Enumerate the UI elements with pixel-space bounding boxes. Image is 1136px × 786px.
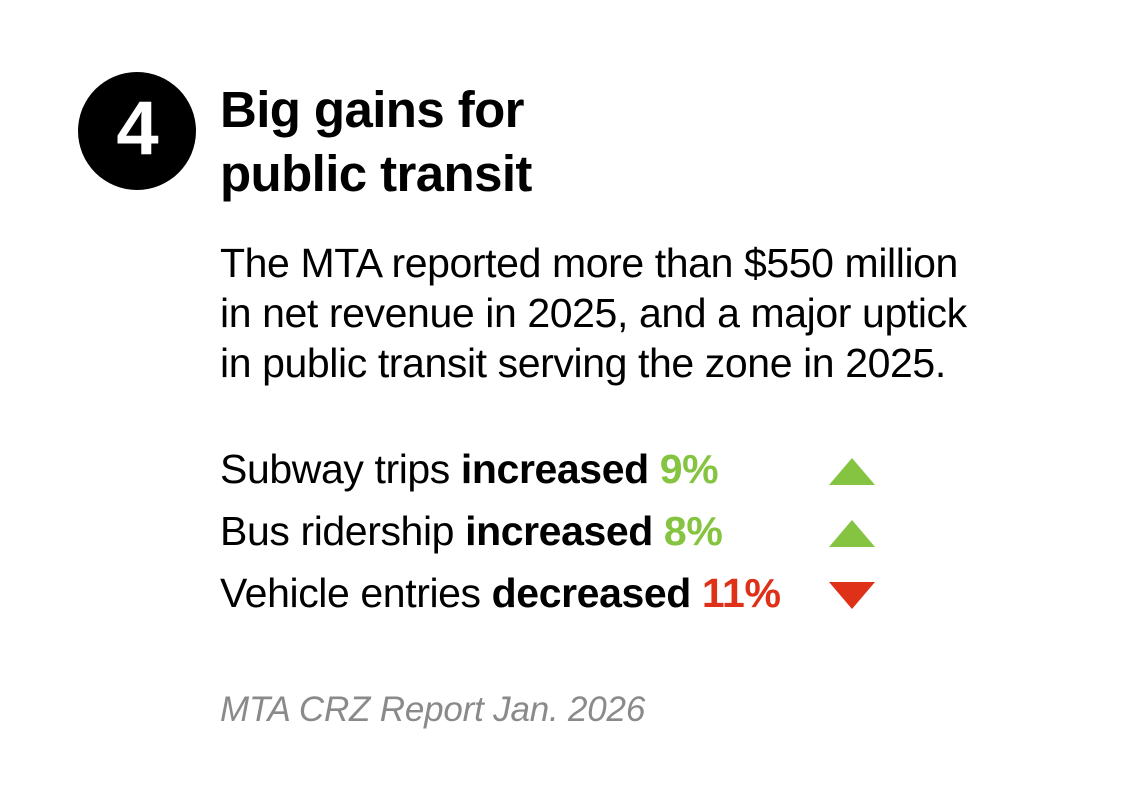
stat-verb: decreased <box>492 570 702 616</box>
triangle-down-shape <box>829 582 875 609</box>
infographic-card: 4 Big gains for public transit The MTA r… <box>0 0 1136 786</box>
stat-text: Vehicle entries decreased 11% <box>220 562 781 624</box>
content-column: Big gains for public transit The MTA rep… <box>220 78 1080 732</box>
stat-text: Bus ridership increased 8% <box>220 500 722 562</box>
stat-value: 11% <box>702 570 781 616</box>
triangle-down-icon <box>829 573 875 613</box>
triangle-up-icon <box>829 449 875 489</box>
stat-label: Vehicle entries <box>220 570 492 616</box>
stat-text: Subway trips increased 9% <box>220 438 718 500</box>
stat-row: Bus ridership increased 8% <box>220 500 980 562</box>
stat-row: Vehicle entries decreased 11% <box>220 562 980 624</box>
stat-value: 8% <box>664 508 722 554</box>
stat-verb: increased <box>465 508 664 554</box>
stats-list: Subway trips increased 9% Bus ridership … <box>220 438 980 624</box>
page-title: Big gains for public transit <box>220 78 1080 206</box>
stat-label: Bus ridership <box>220 508 465 554</box>
body-paragraph: The MTA reported more than $550 million … <box>220 238 1080 388</box>
stat-row: Subway trips increased 9% <box>220 438 980 500</box>
stat-value: 9% <box>660 446 718 492</box>
triangle-up-icon <box>829 511 875 551</box>
source-attribution: MTA CRZ Report Jan. 2026 <box>220 688 1080 732</box>
triangle-up-shape <box>829 520 875 547</box>
stat-label: Subway trips <box>220 446 461 492</box>
stat-verb: increased <box>461 446 660 492</box>
step-number-badge: 4 <box>78 72 196 190</box>
step-number-label: 4 <box>116 91 157 167</box>
triangle-up-shape <box>829 458 875 485</box>
